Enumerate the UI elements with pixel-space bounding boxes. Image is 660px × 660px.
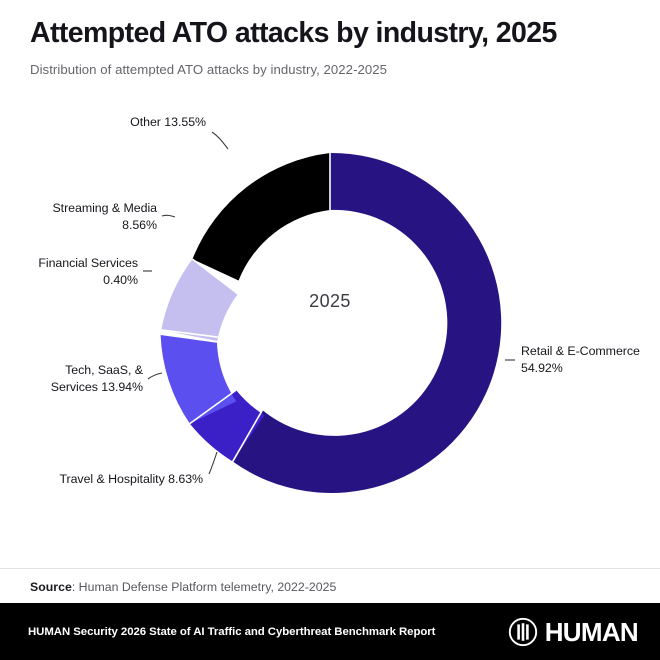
brand-name: HUMAN [545,619,638,645]
source-divider [0,568,660,569]
slice-label-financial-services-line2: 0.40% [103,273,138,287]
slice-label-financial-services-line1: Financial Services [38,256,138,270]
human-logo-icon [508,617,538,647]
source-row: Source: Human Defense Platform telemetry… [30,580,336,594]
source-label: Source [30,580,72,594]
footer-report-title: HUMAN Security 2026 State of AI Traffic … [28,626,435,638]
footer-band: HUMAN Security 2026 State of AI Traffic … [0,603,660,660]
slice-label-streaming-media-line1: Streaming & Media [52,201,157,215]
header: Attempted ATO attacks by industry, 2025 … [0,0,660,78]
source-text: : Human Defense Platform telemetry, 2022… [72,580,337,594]
leader-line-other [212,132,228,149]
donut-chart-svg: 2025 Other 13.55% Streaming & Media 8.56… [0,112,660,542]
brand-lockup: HUMAN [508,617,638,647]
donut-center-label: 2025 [309,291,351,311]
page-title: Attempted ATO attacks by industry, 2025 [30,18,630,49]
slice-label-tech-saas-line2: Services 13.94% [51,380,143,394]
slice-label-travel-hospitality: Travel & Hospitality 8.63% [59,472,203,486]
leader-line-travel-hospitality [209,452,217,474]
slice-label-retail-line2: 54.92% [521,361,563,375]
slice-label-retail-line1: Retail & E-Commerce [521,344,640,358]
slice-label-other: Other 13.55% [130,115,206,129]
leader-line-streaming-media [162,215,175,217]
leader-line-tech-saas [148,373,162,379]
infographic-card: Attempted ATO attacks by industry, 2025 … [0,0,660,660]
slice-label-streaming-media-line2: 8.56% [122,218,157,232]
chart-subtitle: Distribution of attempted ATO attacks by… [30,62,630,78]
donut-chart: 2025 Other 13.55% Streaming & Media 8.56… [0,112,660,542]
slice-label-tech-saas-line1: Tech, SaaS, & [65,363,144,377]
slice-other[interactable] [192,153,330,280]
